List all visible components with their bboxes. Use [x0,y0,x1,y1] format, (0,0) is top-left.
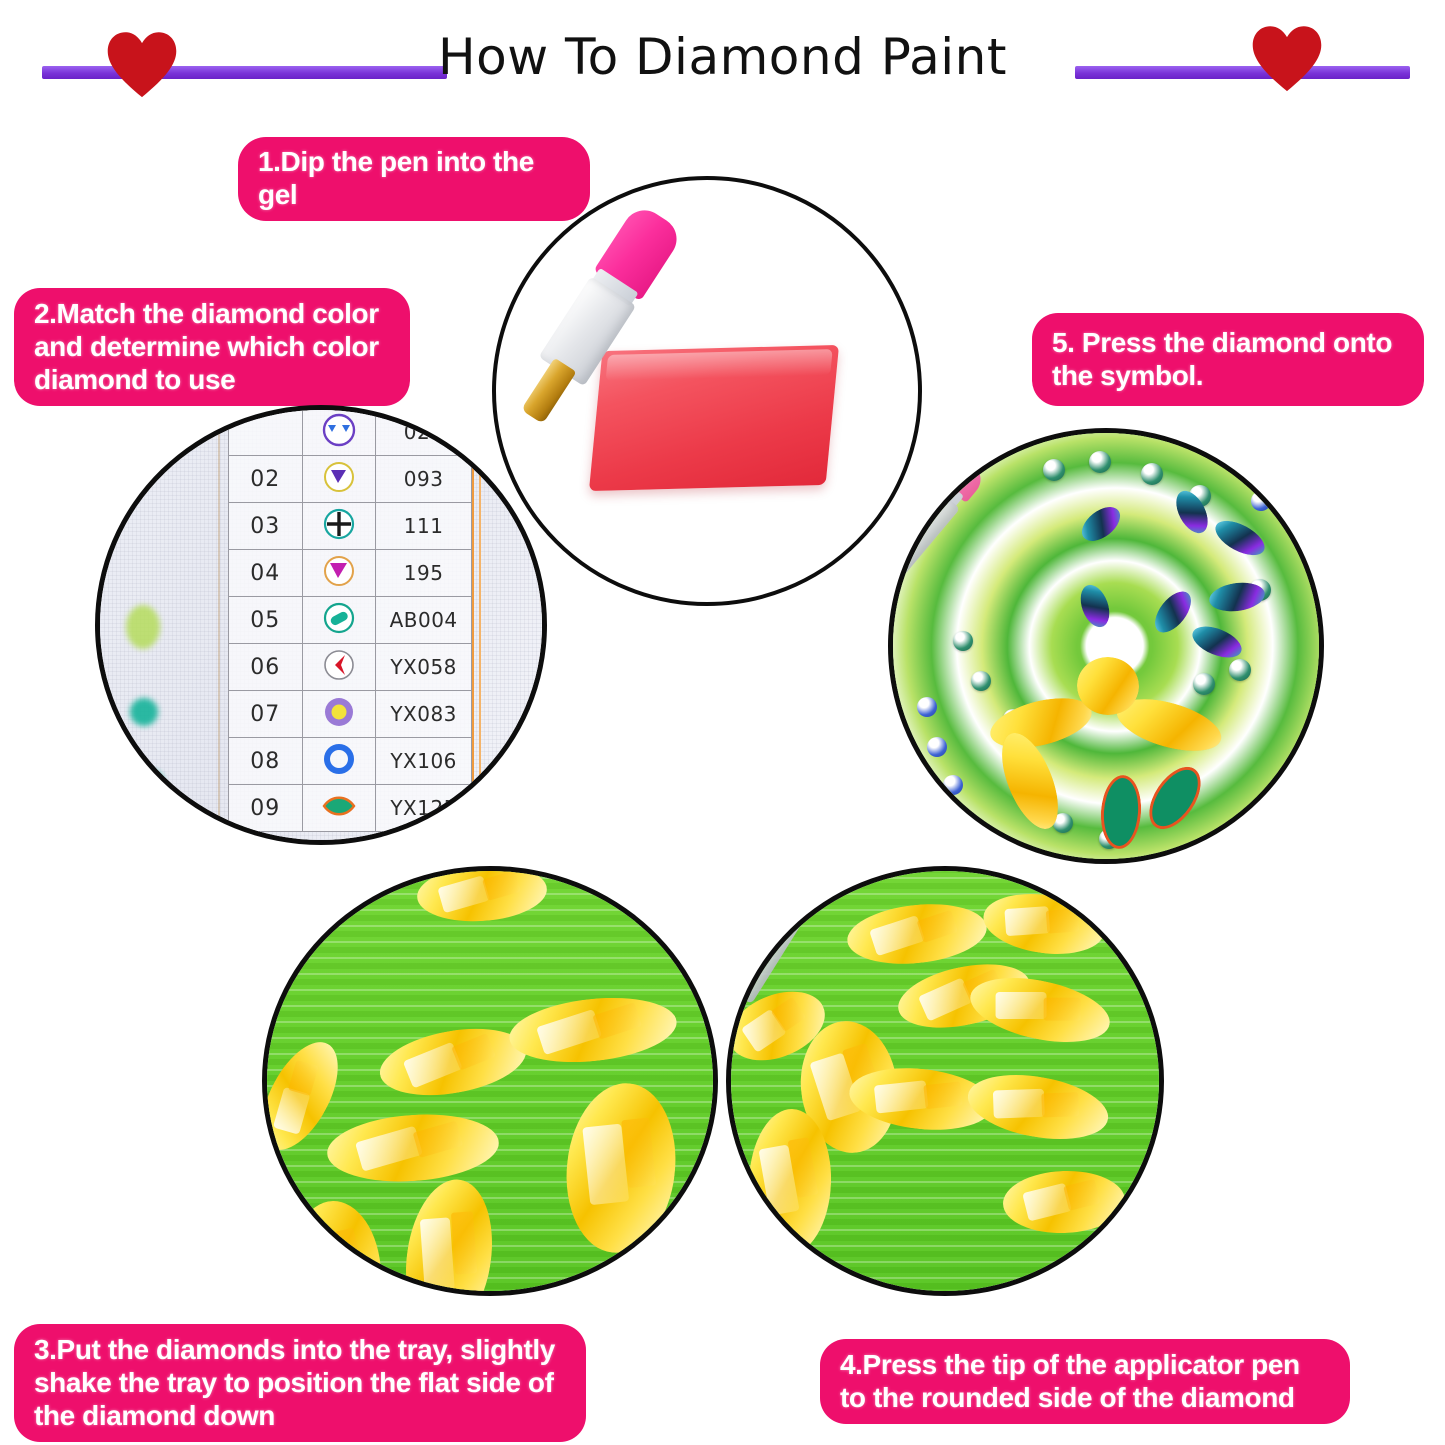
canvas-guide-line [218,410,220,840]
row-code: AB004 [376,597,472,644]
table-row: 06 YX058 [229,644,472,691]
photo-step-4 [726,866,1164,1296]
step-2-label: 2.Match the diamond color and determine … [14,288,410,406]
photo-step-2: 028 02 093 03 111 04 [95,405,547,845]
gem-dot [971,671,991,691]
row-code: 093 [376,456,472,503]
table-row: 08 YX106 [229,738,472,785]
gem-dot [1043,459,1065,481]
photo-step-1 [492,176,922,606]
gem-dot [1229,659,1251,681]
row-number: 03 [229,503,303,550]
yellow-dot-ring-icon [302,691,376,738]
color-code-table: 028 02 093 03 111 04 [228,408,472,832]
row-number: 09 [229,785,303,832]
plus-cross-icon [302,503,376,550]
row-code: YX106 [376,738,472,785]
gem-dot [1193,673,1215,695]
canvas-guide-line [472,410,474,840]
gem-dot [927,737,947,757]
canvas-symbol-blotch [126,605,160,649]
step-5-label: 5. Press the diamond onto the symbol. [1032,313,1424,406]
table-row: 03 111 [229,503,472,550]
row-code: 195 [376,550,472,597]
blue-open-ring-icon [302,738,376,785]
page-title: How To Diamond Paint [0,28,1445,86]
canvas-symbol-blotch [138,770,164,796]
row-number: 05 [229,597,303,644]
row-number: 02 [229,456,303,503]
gem-dot [917,697,937,717]
row-number: 07 [229,691,303,738]
row-code: 111 [376,503,472,550]
gem-dot [953,631,973,651]
table-row: 07 YX083 [229,691,472,738]
green-leaf-icon [302,785,376,832]
gem-dot [1251,491,1271,511]
step-4-label: 4.Press the tip of the applicator pen to… [820,1339,1350,1424]
row-number: 06 [229,644,303,691]
row-code: 028 [376,409,472,456]
twin-blue-triangles-icon [302,409,376,456]
row-number: 08 [229,738,303,785]
table-row: 05 AB004 [229,597,472,644]
row-number: 04 [229,550,303,597]
row-code: YX058 [376,644,472,691]
magenta-triangle-icon [302,550,376,597]
gem-dot [943,775,963,795]
gem-dot [1141,463,1163,485]
row-number [229,409,303,456]
row-code: YX083 [376,691,472,738]
table-row: 04 195 [229,550,472,597]
step-1-label: 1.Dip the pen into the gel [238,137,590,221]
gem-dot [1089,451,1111,473]
purple-triangle-icon [302,456,376,503]
teal-capsule-icon [302,597,376,644]
page-header: How To Diamond Paint [0,0,1445,118]
photo-step-5 [888,428,1324,864]
table-row: 028 [229,409,472,456]
gel-wax-square [589,345,839,491]
canvas-symbol-blotch [130,698,158,726]
table-row: 02 093 [229,456,472,503]
canvas-guide-line [479,410,481,840]
row-code: YX125 [376,785,472,832]
step-3-label: 3.Put the diamonds into the tray, slight… [14,1324,586,1442]
table-row: 09 YX125 [229,785,472,832]
red-chevron-left-icon [302,644,376,691]
photo-step-3 [262,866,718,1296]
